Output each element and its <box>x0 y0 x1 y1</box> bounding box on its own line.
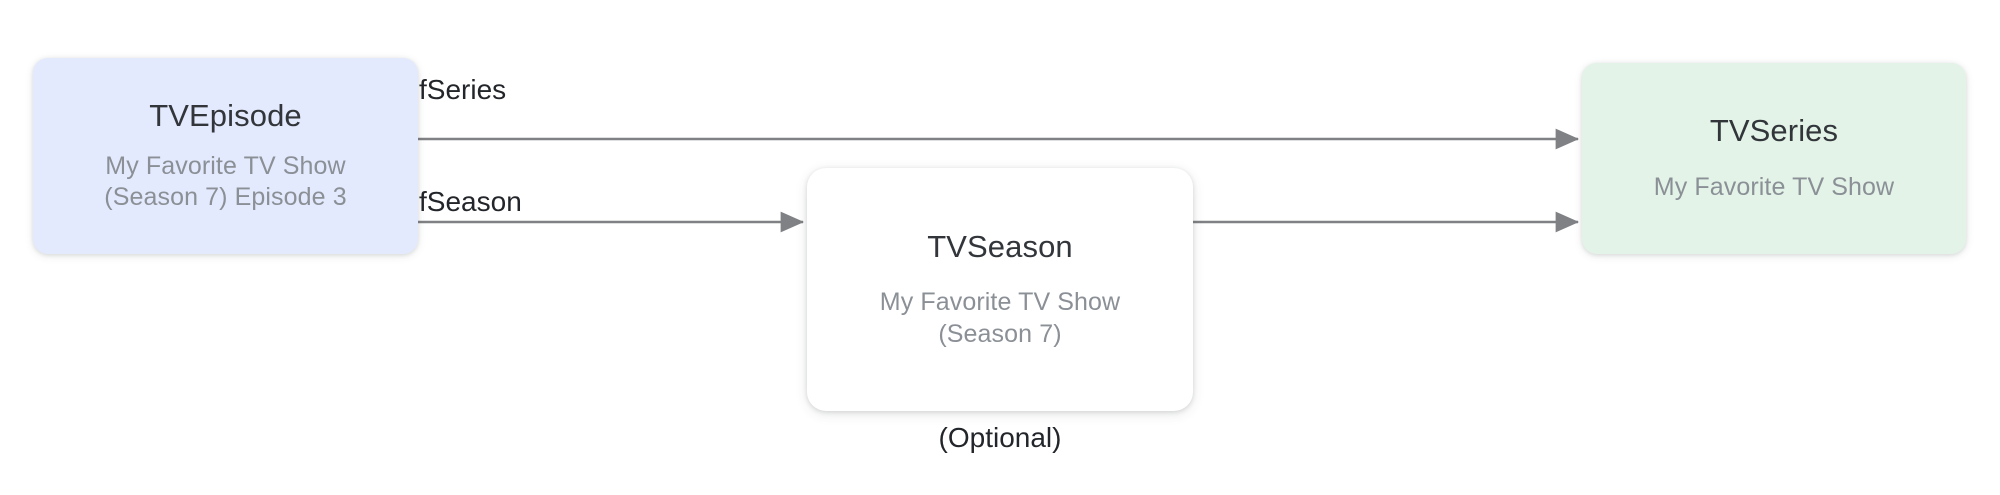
node-tvseason-title: TVSeason <box>927 229 1073 266</box>
node-tvseries[interactable]: TVSeries My Favorite TV Show <box>1582 63 1966 254</box>
diagram-canvas: partOfSeries partOfSeason partOfSeries T… <box>0 0 2000 495</box>
node-tvseries-subtitle-line-1: My Favorite TV Show <box>1654 172 1894 204</box>
node-tvseason-subtitle-line-2: (Season 7) <box>880 319 1120 351</box>
node-tvepisode-subtitle-line-2: (Season 7) Episode 3 <box>104 182 346 214</box>
node-tvseason-subtitle: My Favorite TV Show (Season 7) <box>880 287 1120 350</box>
node-tvepisode-subtitle: My Favorite TV Show (Season 7) Episode 3 <box>104 151 346 214</box>
node-tvepisode-subtitle-line-1: My Favorite TV Show <box>104 151 346 183</box>
node-tvepisode[interactable]: TVEpisode My Favorite TV Show (Season 7)… <box>33 58 418 254</box>
node-tvseason-subtitle-line-1: My Favorite TV Show <box>880 287 1120 319</box>
node-tvseries-title: TVSeries <box>1710 113 1838 150</box>
node-tvseason[interactable]: TVSeason My Favorite TV Show (Season 7) <box>807 168 1193 411</box>
node-tvseries-subtitle: My Favorite TV Show <box>1654 172 1894 204</box>
optional-annotation-label: (Optional) <box>807 424 1193 452</box>
node-tvepisode-title: TVEpisode <box>149 98 302 135</box>
